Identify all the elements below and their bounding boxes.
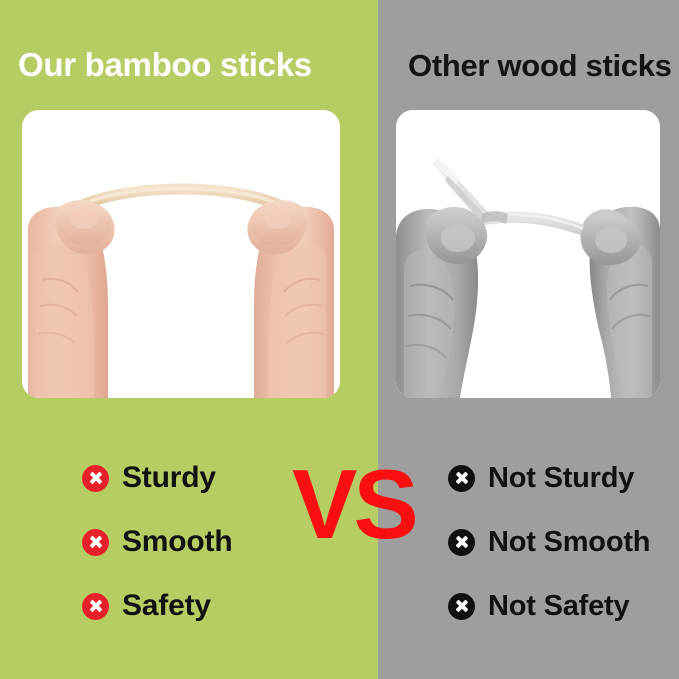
feature-item: Not Safety xyxy=(448,580,650,632)
right-panel-title: Other wood sticks xyxy=(408,50,672,81)
left-product-photo-card xyxy=(22,110,340,398)
vs-label: VS xyxy=(292,455,415,553)
feature-item: Not Sturdy xyxy=(448,452,650,504)
feature-label: Safety xyxy=(122,591,211,621)
left-feature-list: Sturdy Smooth Safety xyxy=(82,452,232,644)
circle-x-icon xyxy=(82,529,109,556)
circle-x-icon xyxy=(82,593,109,620)
right-feature-list: Not Sturdy Not Smooth Not Safety xyxy=(448,452,650,644)
feature-label: Sturdy xyxy=(122,463,216,493)
feature-item: Smooth xyxy=(82,516,232,568)
feature-label: Not Smooth xyxy=(488,528,650,557)
circle-x-icon xyxy=(82,465,109,492)
circle-x-icon xyxy=(448,529,475,556)
comparison-infographic: Our bamboo sticks Other wood sticks xyxy=(0,0,679,679)
hands-breaking-wood-stick-photo xyxy=(396,110,660,398)
circle-x-icon xyxy=(448,465,475,492)
circle-x-icon xyxy=(448,593,475,620)
hands-bending-bamboo-stick-photo xyxy=(22,110,340,398)
right-product-photo-card xyxy=(396,110,660,398)
feature-item: Not Smooth xyxy=(448,516,650,568)
feature-item: Safety xyxy=(82,580,232,632)
feature-label: Not Safety xyxy=(488,592,629,621)
left-panel-title: Our bamboo sticks xyxy=(18,48,312,81)
feature-label: Not Sturdy xyxy=(488,464,634,493)
feature-label: Smooth xyxy=(122,527,232,557)
feature-item: Sturdy xyxy=(82,452,232,504)
